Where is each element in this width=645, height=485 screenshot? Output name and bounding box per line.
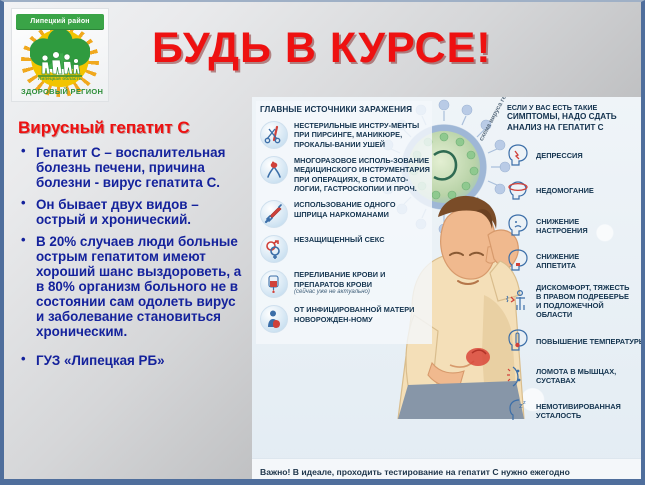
footer-text: Важно! В идеале, проходить тестирование …	[252, 459, 645, 477]
infographic-panel: схема вируса гепатита	[252, 97, 645, 485]
logo-arc-text: Липецкая область ЗДОРОВЫЙ РЕГИОН	[21, 25, 99, 97]
logo-banner-text: Липецкий район	[16, 14, 104, 29]
logo-banner: Липецкий район	[16, 14, 104, 29]
blood-bag-icon	[260, 270, 288, 298]
list-item: МНОГОРАЗОВОЕ ИСПОЛЬ-ЗОВАНИЕ МЕДИЦИНСКОГО…	[258, 156, 430, 193]
list-item: ГУЗ «Липецкая РБ»	[14, 353, 246, 368]
logo-arc-label: ЗДОРОВЫЙ РЕГИОН	[21, 87, 99, 96]
list-item: ПОВЫШЕНИЕ ТЕМПЕРАТУРЫ	[505, 328, 645, 354]
symptom-text: ПОВЫШЕНИЕ ТЕМПЕРАТУРЫ	[536, 337, 645, 346]
symptom-text: ЛОМОТА В МЫШЦАХ, СУСТАВАХ	[536, 367, 645, 385]
head-dizzy-icon	[505, 178, 531, 204]
gender-symbols-icon	[260, 235, 288, 263]
list-item: ДИСКОМФОРТ, ТЯЖЕСТЬ В ПРАВОМ ПОДРЕБЕРЬЕ …	[505, 283, 645, 320]
svg-text:z: z	[523, 400, 526, 406]
body-pain-icon	[505, 288, 531, 314]
fatigue-icon: z z	[505, 398, 531, 424]
left-text-block: Вирусный гепатит С Гепатит С – воспалите…	[14, 118, 246, 375]
list-item: НЕДОМОГАНИЕ	[505, 178, 645, 204]
logo-sub-text: Липецкая область	[21, 76, 99, 81]
symptoms-heading-line3: АНАЛИЗ НА ГЕПАТИТ С	[507, 123, 645, 134]
symptoms-column: ЕСЛИ У ВАС ЕСТЬ ТАКИЕ СИМПТОМЫ, НАДО СДА…	[505, 101, 645, 433]
list-item: ЛОМОТА В МЫШЦАХ, СУСТАВАХ	[505, 363, 645, 389]
page-title: БУДЬ В КУРСЕ!	[152, 24, 572, 73]
symptoms-heading-line1: ЕСЛИ У ВАС ЕСТЬ ТАКИЕ	[507, 103, 645, 112]
source-text: НЕСТЕРИЛЬНЫЕ ИНСТРУ-МЕНТЫ ПРИ ПИРСИНГЕ, …	[294, 121, 430, 149]
symptom-text: НЕДОМОГАНИЕ	[536, 186, 594, 195]
source-note: (сейчас уже не актуально)	[294, 289, 430, 295]
subheading: Вирусный гепатит С	[18, 118, 246, 138]
symptoms-heading-line2: СИМПТОМЫ, НАДО СДАТЬ	[507, 112, 645, 123]
head-appetite-icon	[505, 248, 531, 274]
mother-child-icon	[260, 305, 288, 333]
joint-ache-icon	[505, 363, 531, 389]
pliers-icon	[260, 156, 288, 184]
list-item: ДЕПРЕССИЯ	[505, 143, 645, 169]
source-text: ПЕРЕЛИВАНИЕ КРОВИ И ПРЕПАРАТОВ КРОВИ	[294, 270, 430, 289]
syringe-icon	[260, 200, 288, 228]
list-item: СНИЖЕНИЕ АППЕТИТА	[505, 248, 645, 274]
sources-heading: ГЛАВНЫЕ ИСТОЧНИКИ ЗАРАЖЕНИЯ	[260, 105, 430, 114]
list-item: НЕЗАЩИЩЕННЫЙ СЕКС	[258, 235, 430, 263]
symptom-text: ДЕПРЕССИЯ	[536, 151, 583, 160]
list-item: СНИЖЕНИЕ НАСТРОЕНИЯ	[505, 213, 645, 239]
scissors-needle-icon	[260, 121, 288, 149]
source-text: НЕЗАЩИЩЕННЫЙ СЕКС	[294, 235, 385, 244]
list-item: ОТ ИНФИЦИРОВАННОЙ МАТЕРИ НОВОРОЖДЕН-НОМУ	[258, 305, 430, 333]
symptom-text: ДИСКОМФОРТ, ТЯЖЕСТЬ В ПРАВОМ ПОДРЕБЕРЬЕ …	[536, 283, 629, 320]
slide: Липецкая область ЗДОРОВЫЙ РЕГИОН Липецки…	[0, 0, 645, 485]
head-depression-icon	[505, 143, 531, 169]
source-text: ИСПОЛЬЗОВАНИЕ ОДНОГО ШПРИЦА НАРКОМАНАМИ	[294, 200, 430, 219]
logo-lipetsk-region: Липецкая область ЗДОРОВЫЙ РЕГИОН Липецки…	[11, 8, 109, 102]
list-item: Он бывает двух видов – острый и хроничес…	[14, 197, 246, 227]
list-item: z z НЕМОТИВИРОВАННАЯ УСТАЛОСТЬ	[505, 398, 645, 424]
list-item: ИСПОЛЬЗОВАНИЕ ОДНОГО ШПРИЦА НАРКОМАНАМИ	[258, 200, 430, 228]
symptom-text: СНИЖЕНИЕ НАСТРОЕНИЯ	[536, 217, 588, 235]
source-text: ОТ ИНФИЦИРОВАННОЙ МАТЕРИ НОВОРОЖДЕН-НОМУ	[294, 305, 430, 324]
footer-banner: Важно! В идеале, проходить тестирование …	[252, 458, 645, 485]
sources-column: ГЛАВНЫЕ ИСТОЧНИКИ ЗАРАЖЕНИЯ НЕСТЕРИЛЬНЫЕ…	[256, 101, 432, 344]
list-item: ПЕРЕЛИВАНИЕ КРОВИ И ПРЕПАРАТОВ КРОВИ (се…	[258, 270, 430, 298]
symptom-text: НЕМОТИВИРОВАННАЯ УСТАЛОСТЬ	[536, 402, 645, 420]
symptom-text: СНИЖЕНИЕ АППЕТИТА	[536, 252, 579, 270]
head-sad-icon	[505, 213, 531, 239]
bullet-list: Гепатит С – воспалительная болезнь печен…	[14, 145, 246, 368]
source-text: МНОГОРАЗОВОЕ ИСПОЛЬ-ЗОВАНИЕ МЕДИЦИНСКОГО…	[294, 156, 430, 193]
thermometer-head-icon	[505, 328, 531, 354]
list-item: НЕСТЕРИЛЬНЫЕ ИНСТРУ-МЕНТЫ ПРИ ПИРСИНГЕ, …	[258, 121, 430, 149]
symptoms-heading: ЕСЛИ У ВАС ЕСТЬ ТАКИЕ СИМПТОМЫ, НАДО СДА…	[507, 103, 645, 134]
list-item: В 20% случаев люди больные острым гепати…	[14, 234, 246, 339]
list-item: Гепатит С – воспалительная болезнь печен…	[14, 145, 246, 190]
